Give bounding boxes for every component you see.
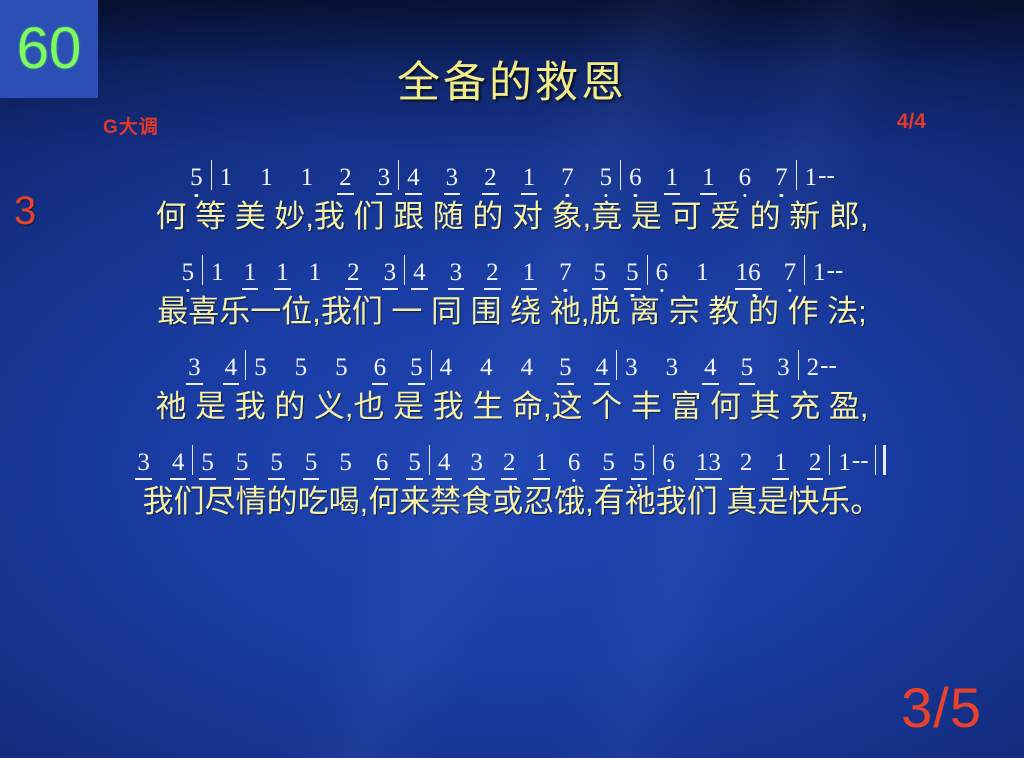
lyrics-line-3: 祂 是 我 的 义,也 是 我 生 命,这 个 丰 富 何 其 充 盈, bbox=[0, 380, 1024, 426]
page-title: 全备的救恩 bbox=[0, 48, 1024, 110]
verse-number: 3 bbox=[14, 189, 36, 234]
hymn-slide: 60 全备的救恩 G大调 4/4 511123432175611671-- 何 … bbox=[0, 0, 1024, 758]
time-signature-label: 4/4 bbox=[897, 110, 926, 134]
barline bbox=[398, 160, 399, 190]
barline bbox=[202, 255, 203, 285]
stanza-2: 51111234321755611671-- 最喜乐一位,我们 一 同 围 绕 … bbox=[0, 245, 1024, 331]
barline bbox=[404, 255, 405, 285]
barline bbox=[192, 445, 193, 475]
final-barline bbox=[875, 445, 886, 475]
beamed-pair: 16 bbox=[736, 260, 761, 285]
key-signature-label: G大调 bbox=[103, 112, 159, 139]
barline bbox=[616, 350, 617, 380]
notation-line-4: 34555556543216556132121-- bbox=[0, 435, 1024, 475]
barline bbox=[620, 160, 621, 190]
music-body: 511123432175611671-- 何 等 美 妙,我 们 跟 随 的 对… bbox=[0, 150, 1024, 530]
barline bbox=[804, 255, 805, 285]
lyrics-line-2: 最喜乐一位,我们 一 同 围 绕 祂,脱 离 宗 教 的 作 法; bbox=[0, 285, 1024, 331]
stanza-3: 345556544454334532-- 祂 是 我 的 义,也 是 我 生 命… bbox=[0, 340, 1024, 426]
barline bbox=[245, 350, 246, 380]
barline bbox=[798, 350, 799, 380]
notation-line-2: 51111234321755611671-- bbox=[0, 245, 1024, 285]
stanza-1: 511123432175611671-- 何 等 美 妙,我 们 跟 随 的 对… bbox=[0, 150, 1024, 236]
notation-line-1: 511123432175611671-- bbox=[0, 150, 1024, 190]
notation-line-3: 345556544454334532-- bbox=[0, 340, 1024, 380]
barline bbox=[653, 445, 654, 475]
stanza-4: 34555556543216556132121-- 我们尽情的吃喝,何来禁食或忍… bbox=[0, 435, 1024, 521]
barline bbox=[431, 350, 432, 380]
barline bbox=[211, 160, 212, 190]
barline bbox=[829, 445, 830, 475]
lyrics-line-4: 我们尽情的吃喝,何来禁食或忍饿,有祂我们 真是快乐。 bbox=[0, 475, 1024, 521]
lyrics-line-1: 何 等 美 妙,我 们 跟 随 的 对 象,竟 是 可 爱 的 新 郎, bbox=[0, 190, 1024, 236]
barline bbox=[796, 160, 797, 190]
beamed-pair: 13 bbox=[696, 450, 721, 475]
barline bbox=[647, 255, 648, 285]
page-number: 3/5 bbox=[901, 675, 982, 740]
barline bbox=[429, 445, 430, 475]
